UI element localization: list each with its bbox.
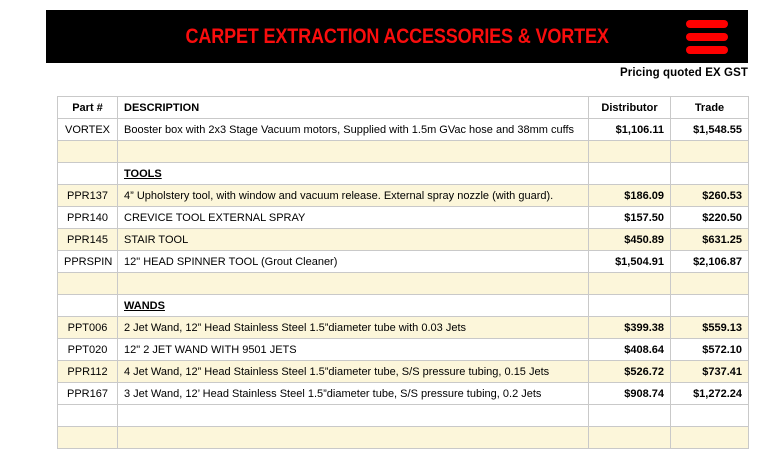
cell-distributor-price: $399.38 [589,317,671,339]
cell-distributor-price: $186.09 [589,185,671,207]
table-row: VORTEXBooster box with 2x3 Stage Vacuum … [58,119,749,141]
cell-distributor-price: $908.74 [589,383,671,405]
hamburger-bar-1 [686,20,728,28]
cell-distributor-price: $1,106.11 [589,119,671,141]
cell-trade-price: $220.50 [671,207,749,229]
cell-part-number: PPR137 [58,185,118,207]
section-heading-label: TOOLS [124,168,162,180]
cell-distributor-price [589,405,671,427]
cell-trade-price: $2,106.87 [671,251,749,273]
cell-part-number: PPR112 [58,361,118,383]
table-row: PPR1374” Upholstery tool, with window an… [58,185,749,207]
cell-description: Booster box with 2x3 Stage Vacuum motors… [118,119,589,141]
table-spacer-row [58,405,749,427]
table-header-row: Part # DESCRIPTION Distributor Trade [58,97,749,119]
column-header-distributor: Distributor [589,97,671,119]
cell-trade-price [671,273,749,295]
price-table-container: Part # DESCRIPTION Distributor Trade VOR… [57,96,748,449]
cell-part-number: PPR145 [58,229,118,251]
cell-distributor-price: $408.64 [589,339,671,361]
column-header-description: DESCRIPTION [118,97,589,119]
cell-description [118,405,589,427]
table-section-row: TOOLS [58,163,749,185]
cell-trade-price: $260.53 [671,185,749,207]
cell-trade-price [671,163,749,185]
cell-description: STAIR TOOL [118,229,589,251]
cell-part-number: PPR140 [58,207,118,229]
cell-part-number: PPT020 [58,339,118,361]
column-header-part: Part # [58,97,118,119]
cell-trade-price: $1,272.24 [671,383,749,405]
cell-description: 12" HEAD SPINNER TOOL (Grout Cleaner) [118,251,589,273]
column-header-trade: Trade [671,97,749,119]
cell-distributor-price [589,273,671,295]
table-body: VORTEXBooster box with 2x3 Stage Vacuum … [58,119,749,449]
cell-description: 3 Jet Wand, 12’ Head Stainless Steel 1.5… [118,383,589,405]
table-header: Part # DESCRIPTION Distributor Trade [58,97,749,119]
cell-distributor-price [589,163,671,185]
page-title: CARPET EXTRACTION ACCESSORIES & VORTEX [185,25,608,49]
cell-part-number [58,405,118,427]
cell-trade-price [671,295,749,317]
cell-trade-price: $631.25 [671,229,749,251]
cell-distributor-price: $1,504.91 [589,251,671,273]
table-row: PPT0062 Jet Wand, 12” Head Stainless Ste… [58,317,749,339]
table-spacer-row [58,141,749,163]
cell-part-number [58,163,118,185]
cell-distributor-price: $450.89 [589,229,671,251]
cell-part-number [58,141,118,163]
cell-trade-price: $572.10 [671,339,749,361]
cell-trade-price [671,141,749,163]
cell-description: 2 Jet Wand, 12” Head Stainless Steel 1.5… [118,317,589,339]
pricing-note: Pricing quoted EX GST [620,67,748,79]
page-banner: CARPET EXTRACTION ACCESSORIES & VORTEX [46,10,748,63]
cell-description: CREVICE TOOL EXTERNAL SPRAY [118,207,589,229]
table-row: PPR140CREVICE TOOL EXTERNAL SPRAY$157.50… [58,207,749,229]
cell-part-number: PPT006 [58,317,118,339]
cell-trade-price: $737.41 [671,361,749,383]
section-heading-label: WANDS [124,300,165,312]
cell-description [118,141,589,163]
cell-distributor-price: $157.50 [589,207,671,229]
cell-description: 12" 2 JET WAND WITH 9501 JETS [118,339,589,361]
cell-distributor-price: $526.72 [589,361,671,383]
table-section-row: WANDS [58,295,749,317]
cell-description [118,273,589,295]
table-row: PPT02012" 2 JET WAND WITH 9501 JETS$408.… [58,339,749,361]
table-row: PPRSPIN12" HEAD SPINNER TOOL (Grout Clea… [58,251,749,273]
cell-section-heading: TOOLS [118,163,589,185]
cell-trade-price: $1,548.55 [671,119,749,141]
cell-part-number [58,273,118,295]
cell-distributor-price [589,295,671,317]
cell-description: 4 Jet Wand, 12” Head Stainless Steel 1.5… [118,361,589,383]
cell-section-heading: WANDS [118,295,589,317]
cell-part-number [58,295,118,317]
price-table: Part # DESCRIPTION Distributor Trade VOR… [57,96,749,449]
cell-trade-price [671,405,749,427]
cell-part-number: PPR167 [58,383,118,405]
cell-part-number: PPRSPIN [58,251,118,273]
cell-description: 4” Upholstery tool, with window and vacu… [118,185,589,207]
hamburger-bar-2 [686,33,728,41]
table-spacer-row [58,273,749,295]
cell-part-number: VORTEX [58,119,118,141]
hamburger-bar-3 [686,46,728,54]
table-row: PPR145STAIR TOOL$450.89$631.25 [58,229,749,251]
cell-distributor-price [589,141,671,163]
hamburger-menu-icon[interactable] [686,20,728,54]
table-row: PPR1124 Jet Wand, 12” Head Stainless Ste… [58,361,749,383]
cell-trade-price: $559.13 [671,317,749,339]
table-row: PPR1673 Jet Wand, 12’ Head Stainless Ste… [58,383,749,405]
